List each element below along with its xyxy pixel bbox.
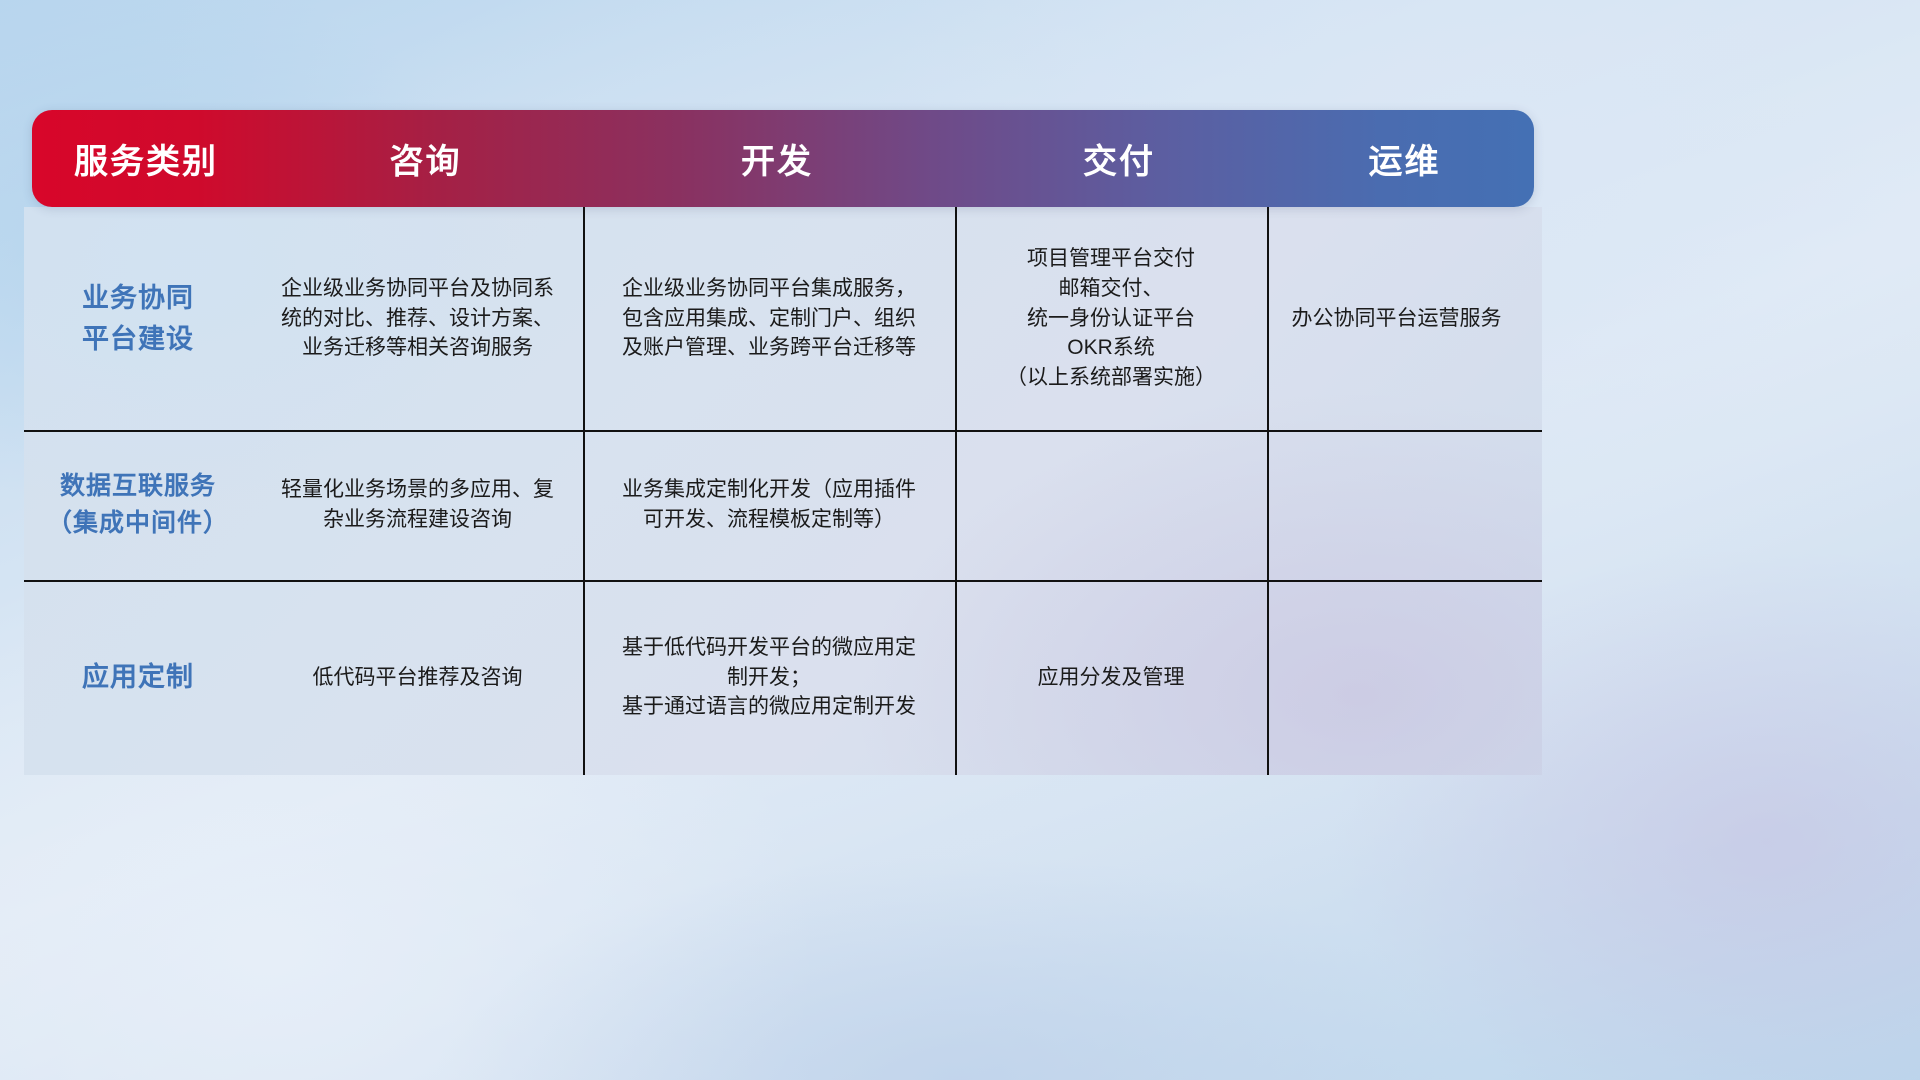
table-row: 业务协同 平台建设 企业级业务协同平台及协同系 统的对比、推荐、设计方案、 业务…: [24, 207, 1542, 430]
header-cell-development: 开发: [591, 110, 963, 207]
column-divider-3: [955, 207, 957, 775]
cell-development: 业务集成定制化开发（应用插件 可开发、流程模板定制等）: [583, 430, 955, 580]
row-category-label: 数据互联服务 （集成中间件）: [24, 430, 252, 580]
row-category-label: 业务协同 平台建设: [24, 207, 252, 430]
row-divider-2: [24, 580, 1542, 582]
cell-delivery: 项目管理平台交付 邮箱交付、 统一身份认证平台 OKR系统 （以上系统部署实施）: [955, 207, 1267, 430]
header-cell-operations: 运维: [1275, 110, 1534, 207]
header-cell-category: 服务类别: [32, 110, 260, 207]
header-cell-delivery: 交付: [963, 110, 1275, 207]
service-matrix-table: 服务类别 咨询 开发 交付 运维 业务协同 平台建设 企业级业务协同平台及协同系…: [24, 110, 1542, 775]
cell-development: 企业级业务协同平台集成服务， 包含应用集成、定制门户、组织 及账户管理、业务跨平…: [583, 207, 955, 430]
table-header-row: 服务类别 咨询 开发 交付 运维: [32, 110, 1534, 207]
table-row: 应用定制 低代码平台推荐及咨询 基于低代码开发平台的微应用定 制开发； 基于通过…: [24, 580, 1542, 775]
cell-operations: [1267, 430, 1526, 580]
cell-consulting: 低代码平台推荐及咨询: [252, 580, 583, 775]
table-body: 业务协同 平台建设 企业级业务协同平台及协同系 统的对比、推荐、设计方案、 业务…: [24, 207, 1542, 775]
column-divider-2: [583, 207, 585, 775]
header-cell-consulting: 咨询: [260, 110, 591, 207]
cell-delivery: 应用分发及管理: [955, 580, 1267, 775]
table-row: 数据互联服务 （集成中间件） 轻量化业务场景的多应用、复 杂业务流程建设咨询 业…: [24, 430, 1542, 580]
row-category-label: 应用定制: [24, 580, 252, 775]
cell-consulting: 企业级业务协同平台及协同系 统的对比、推荐、设计方案、 业务迁移等相关咨询服务: [252, 207, 583, 430]
cell-development: 基于低代码开发平台的微应用定 制开发； 基于通过语言的微应用定制开发: [583, 580, 955, 775]
cell-consulting: 轻量化业务场景的多应用、复 杂业务流程建设咨询: [252, 430, 583, 580]
row-divider-1: [24, 430, 1542, 432]
cell-operations: 办公协同平台运营服务: [1267, 207, 1526, 430]
cell-delivery: [955, 430, 1267, 580]
column-divider-4: [1267, 207, 1269, 775]
cell-operations: [1267, 580, 1526, 775]
